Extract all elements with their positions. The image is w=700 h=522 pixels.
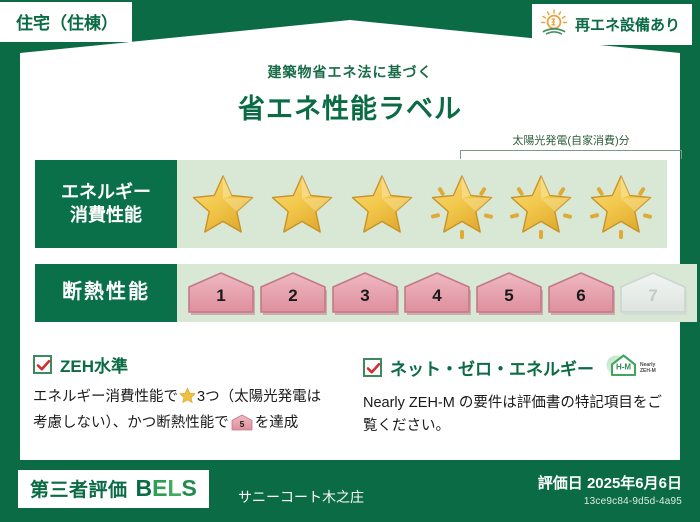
renewable-badge-label: 再エネ設備あり [575, 14, 680, 35]
insulation-row-body: 1 2 3 4 5 [177, 264, 697, 322]
net-zero-criteria-title: ネット・ゼロ・エネルギー [390, 355, 594, 380]
title-block: 建築物省エネ法に基づく 省エネ性能ラベル [0, 62, 700, 126]
inline-house-badge: 5 [231, 419, 253, 435]
evaluation-id: 13ce9c84-9d5d-4a95 [538, 496, 682, 507]
evaluation-info: 評価日 2025年6月6日 13ce9c84-9d5d-4a95 [538, 472, 682, 507]
bels-logo-text: BELS [136, 475, 197, 502]
insulation-grade-number: 2 [257, 286, 329, 306]
house-type-tag-label: 住宅（住棟） [16, 14, 118, 33]
evaluation-date-label: 評価日 [538, 475, 583, 492]
insulation-performance-row: 断熱性能 1 2 3 [35, 264, 667, 322]
net-zero-criteria-block: ネット・ゼロ・エネルギー H-M Nearly ZEH-M [363, 352, 663, 438]
net-zero-criteria-body: Nearly ZEH-M の要件は評価書の特記項目をご覧ください。 [363, 392, 663, 438]
insulation-grade-group: 1 2 3 4 5 [177, 270, 697, 316]
insulation-grade-number: 6 [545, 286, 617, 306]
evaluation-date-value: 2025年6月6日 [587, 475, 682, 492]
zeh-criteria-header: ZEH水準 [33, 352, 333, 377]
insulation-grade-number: 1 [185, 286, 257, 306]
energy-row-body: 太陽光発電(自家消費)分 [177, 160, 667, 248]
inline-star-icon [179, 392, 196, 408]
svg-text:5: 5 [239, 419, 244, 429]
label-subtitle: 建築物省エネ法に基づく [0, 62, 700, 82]
zeh-criteria-block: ZEH水準 エネルギー消費性能で3つ（太陽光発電は考慮しない）、かつ断熱性能で5… [33, 352, 333, 439]
energy-performance-row: エネルギー 消費性能 太陽光発電(自家消費)分 [35, 160, 667, 248]
nearly-zehm-logo-icon: H-M Nearly ZEH-M [604, 352, 658, 383]
insulation-grade-item: 4 [401, 270, 473, 316]
bels-certification-box: 第三者評価 BELS [18, 470, 209, 508]
insulation-grade-item: 3 [329, 270, 401, 316]
energy-performance-label: 住宅（住棟） 再エネ設備あり 建築 [0, 0, 700, 522]
solar-sun-icon [540, 9, 568, 40]
zeh-body-part3: を達成 [255, 415, 299, 431]
energy-row-label-line2: 消費性能 [70, 204, 142, 227]
energy-row-label-line1: エネルギー [61, 181, 151, 204]
bels-letter: S [182, 475, 197, 501]
zeh-body-part1: エネルギー消費性能で [33, 389, 178, 405]
insulation-row-label: 断熱性能 [35, 264, 177, 322]
label-main-title: 省エネ性能ラベル [0, 87, 700, 126]
star-rating-item [346, 168, 418, 240]
star-rating-item [266, 168, 338, 240]
net-zero-checkbox[interactable] [363, 358, 382, 377]
insulation-grade-item: 5 [473, 270, 545, 316]
bels-letter: B [136, 475, 153, 501]
evaluation-date: 評価日 2025年6月6日 [538, 472, 682, 493]
insulation-grade-number: 5 [473, 286, 545, 306]
star-rating-group [177, 168, 667, 240]
svg-text:H-M: H-M [616, 363, 631, 372]
insulation-grade-number: 3 [329, 286, 401, 306]
star-rating-item [505, 168, 577, 240]
zeh-criteria-body: エネルギー消費性能で3つ（太陽光発電は考慮しない）、かつ断熱性能で5を達成 [33, 386, 333, 439]
renewable-equipment-badge: 再エネ設備あり [532, 4, 692, 45]
svg-text:ZEH-M: ZEH-M [640, 368, 656, 374]
bels-prefix-label: 第三者評価 [30, 475, 128, 502]
energy-row-label: エネルギー 消費性能 [35, 160, 177, 248]
insulation-grade-item: 7 [617, 270, 689, 316]
zeh-criteria-title: ZEH水準 [60, 352, 128, 377]
insulation-grade-number: 7 [617, 286, 689, 306]
bels-letter: E [152, 475, 167, 501]
zeh-checkbox[interactable] [33, 355, 52, 374]
property-name: サニーコート木之庄 [238, 487, 364, 507]
insulation-grade-item: 2 [257, 270, 329, 316]
insulation-grade-number: 4 [401, 286, 473, 306]
house-type-tag: 住宅（住棟） [0, 2, 132, 42]
star-rating-item [585, 168, 657, 240]
star-rating-item [187, 168, 259, 240]
star-rating-item [426, 168, 498, 240]
bels-letter: L [167, 475, 181, 501]
footer: 第三者評価 BELS サニーコート木之庄 評価日 2025年6月6日 13ce9… [0, 462, 700, 522]
insulation-grade-item: 6 [545, 270, 617, 316]
insulation-grade-item: 1 [185, 270, 257, 316]
net-zero-criteria-header: ネット・ゼロ・エネルギー H-M Nearly ZEH-M [363, 352, 663, 383]
